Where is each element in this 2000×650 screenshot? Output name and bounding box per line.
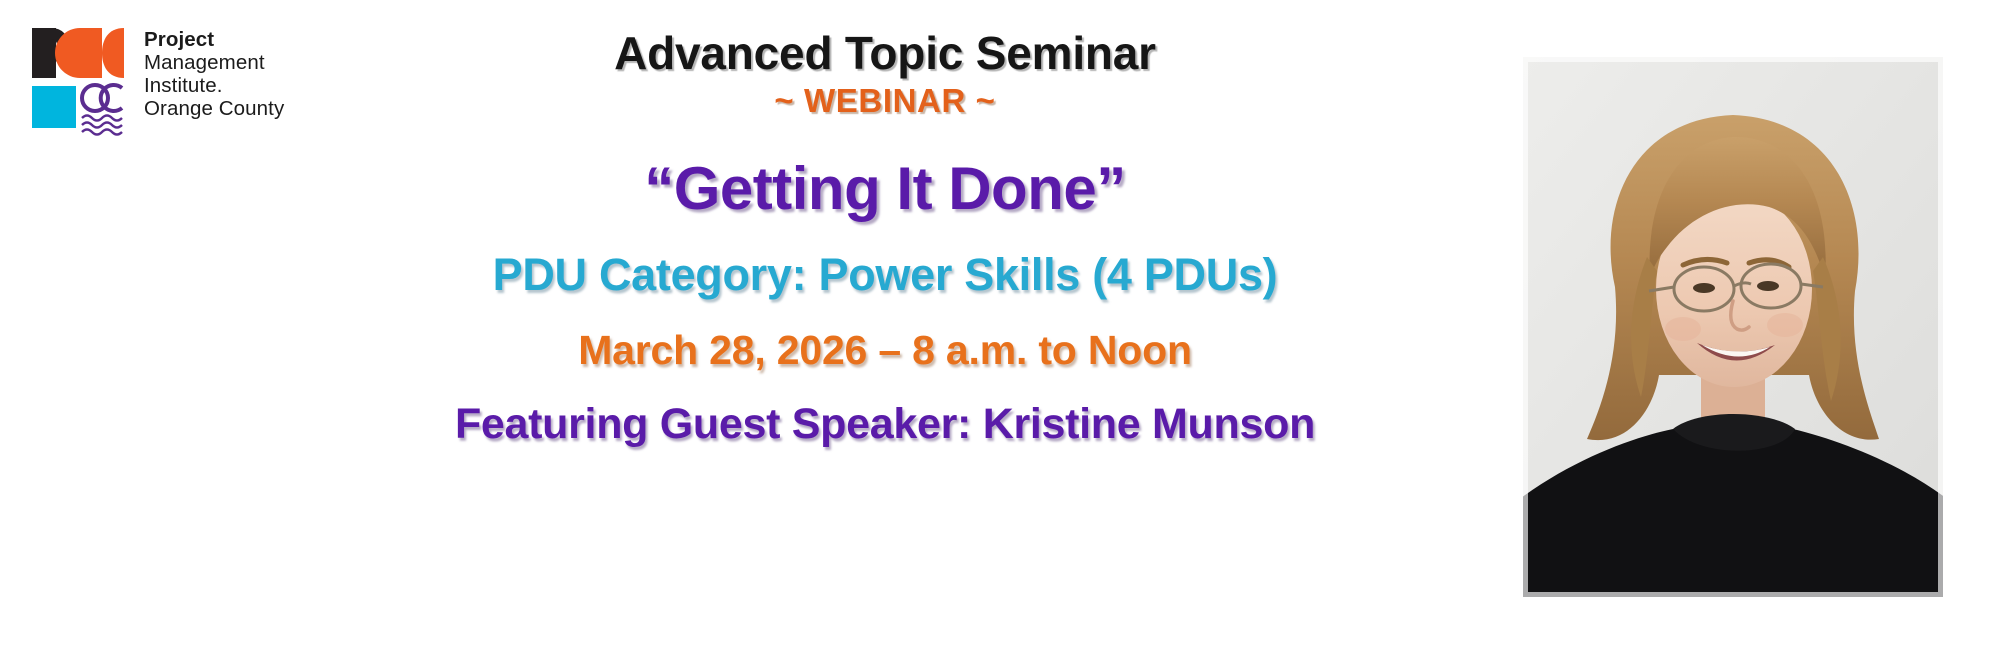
photo-cheek-right	[1767, 313, 1803, 337]
seminar-banner: Project Management Institute. Orange Cou…	[0, 0, 2000, 650]
logo-wordmark-line-1: Project	[144, 28, 284, 51]
logo-wordmark-line-4: Orange County	[144, 97, 284, 120]
pmi-logo-wordmark: Project Management Institute. Orange Cou…	[144, 26, 284, 121]
seminar-heading: Advanced Topic Seminar	[614, 26, 1156, 80]
pmi-orange-county-logo: Project Management Institute. Orange Cou…	[30, 26, 340, 146]
seminar-title: “Getting It Done”	[644, 154, 1125, 223]
guest-speaker-text: Featuring Guest Speaker: Kristine Munson	[455, 400, 1315, 449]
logo-hourglass-cyan	[32, 86, 76, 128]
logo-waves	[82, 116, 122, 135]
photo-cheek-left	[1665, 317, 1701, 341]
logo-wordmark-line-3: Institute.	[144, 74, 284, 97]
speaker-headshot	[1523, 57, 1943, 597]
pdu-category-text: PDU Category: Power Skills (4 PDUs)	[493, 249, 1278, 301]
logo-butterfly-orange	[55, 28, 124, 78]
seminar-date-time: March 28, 2026 – 8 a.m. to Noon	[578, 327, 1192, 374]
logo-wordmark-line-2: Management	[144, 51, 284, 74]
pmi-logo-mark-icon	[30, 26, 128, 138]
photo-eye-right	[1757, 281, 1779, 291]
logo-oc-monogram	[82, 85, 122, 111]
photo-eye-left	[1693, 283, 1715, 293]
webinar-subheading: ~ WEBINAR ~	[774, 82, 995, 120]
seminar-text-block: Advanced Topic Seminar ~ WEBINAR ~ “Gett…	[330, 0, 1440, 650]
